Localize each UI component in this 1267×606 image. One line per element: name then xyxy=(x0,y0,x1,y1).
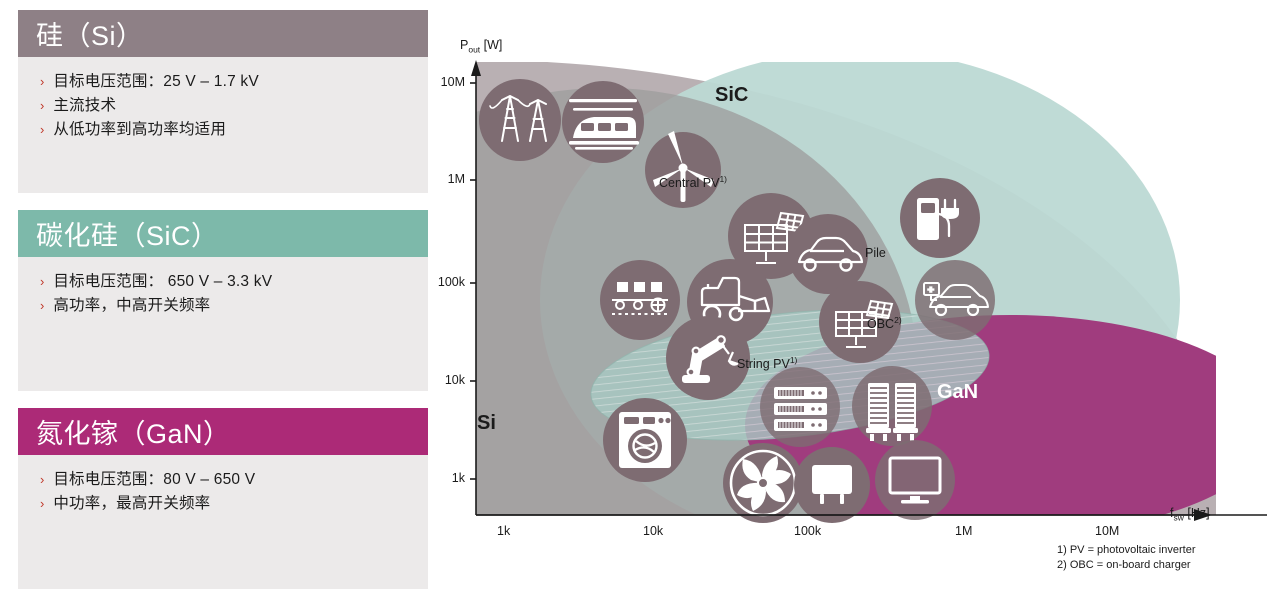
annotation-obc-sup: 2) xyxy=(894,315,902,325)
y-tick-label: 10M xyxy=(410,75,465,89)
app-bubble-washing-machine xyxy=(603,398,687,482)
annotation-pile-label: Pile xyxy=(865,246,886,260)
list-item: › 目标电压范围： 650 V – 3.3 kV xyxy=(18,271,428,292)
list-item-label: 目标电压范围： 650 V – 3.3 kV xyxy=(53,271,272,292)
list-item: › 目标电压范围：25 V – 1.7 kV xyxy=(18,71,428,92)
x-axis-title: fsw [Hz] xyxy=(1170,506,1210,523)
annotation-central-pv-sup: 1) xyxy=(719,174,727,184)
list-item-label: 从低功率到高功率均适用 xyxy=(53,119,226,140)
app-bubble-server-rack xyxy=(760,367,840,447)
footnote-1: 1) PV = photovoltaic inverter xyxy=(1057,543,1196,558)
list-item-label: 中功率，最高开关频率 xyxy=(53,493,210,514)
y-axis-title: Pout [W] xyxy=(460,38,502,55)
annotation-string-pv: String PV1) xyxy=(737,355,797,371)
card-gan-body: › 目标电压范围：80 V – 650 V › 中功率，最高开关频率 xyxy=(18,455,428,589)
annotation-string-pv-label: String PV xyxy=(737,357,790,371)
x-axis-title-unit: [Hz] xyxy=(1187,506,1209,520)
y-tick-label: 1k xyxy=(410,471,465,485)
card-si-body: › 目标电压范围：25 V – 1.7 kV › 主流技术 › 从低功率到高功率… xyxy=(18,57,428,193)
app-bubble-power-adapter xyxy=(794,447,870,523)
list-item-label: 高功率，中高开关频率 xyxy=(53,295,210,316)
footnote-2: 2) OBC = on-board charger xyxy=(1057,558,1191,573)
annotation-obc: OBC2) xyxy=(867,315,902,331)
material-cards: 硅（Si） › 目标电压范围：25 V – 1.7 kV › 主流技术 › 从低… xyxy=(18,10,428,606)
region-label-sic: SiC xyxy=(715,84,748,107)
annotation-string-pv-sup: 1) xyxy=(790,355,798,365)
list-item-label: 目标电压范围：25 V – 1.7 kV xyxy=(53,71,259,92)
y-tick-label: 10k xyxy=(410,373,465,387)
region-label-si: Si xyxy=(477,412,496,435)
list-item-label: 目标电压范围：80 V – 650 V xyxy=(53,469,255,490)
y-axis-title-subscript: out xyxy=(468,45,480,55)
list-item: › 从低功率到高功率均适用 xyxy=(18,119,428,140)
list-item-label: 主流技术 xyxy=(53,95,116,116)
list-item: › 主流技术 xyxy=(18,95,428,116)
card-sic-title: 碳化硅（SiC） xyxy=(36,214,219,253)
annotation-central-pv: Central PV1) xyxy=(659,174,727,190)
chevron-right-icon: › xyxy=(40,493,44,514)
chevron-right-icon: › xyxy=(40,271,44,292)
y-tick-label: 1M xyxy=(410,172,465,186)
app-bubble-server-tower xyxy=(852,366,932,446)
x-tick-label: 100k xyxy=(794,524,821,538)
app-bubble-power-grid xyxy=(479,79,561,161)
card-sic-body: › 目标电压范围： 650 V – 3.3 kV › 高功率，中高开关频率 xyxy=(18,257,428,391)
chevron-right-icon: › xyxy=(40,295,44,316)
x-tick-label: 1M xyxy=(955,524,972,538)
app-bubble-train xyxy=(562,81,644,163)
card-sic-header: 碳化硅（SiC） xyxy=(18,210,428,257)
card-si-title: 硅（Si） xyxy=(36,14,144,53)
y-tick-label: 100k xyxy=(410,275,465,289)
x-axis-title-subscript: sw xyxy=(1173,513,1183,523)
card-sic: 碳化硅（SiC） › 目标电压范围： 650 V – 3.3 kV › 高功率，… xyxy=(18,210,428,391)
annotation-obc-label: OBC xyxy=(867,317,894,331)
y-axis-title-unit: [W] xyxy=(484,38,503,52)
chevron-right-icon: › xyxy=(40,469,44,490)
region-label-gan: GaN xyxy=(937,381,978,404)
chevron-right-icon: › xyxy=(40,119,44,140)
x-tick-label: 10k xyxy=(643,524,663,538)
card-si: 硅（Si） › 目标电压范围：25 V – 1.7 kV › 主流技术 › 从低… xyxy=(18,10,428,193)
app-bubble-fan xyxy=(723,443,803,523)
card-gan: 氮化镓（GaN） › 目标电压范围：80 V – 650 V › 中功率，最高开… xyxy=(18,408,428,589)
chevron-right-icon: › xyxy=(40,95,44,116)
app-bubble-charging-pile xyxy=(900,178,980,258)
annotation-central-pv-label: Central PV xyxy=(659,176,719,190)
card-gan-header: 氮化镓（GaN） xyxy=(18,408,428,455)
list-item: › 目标电压范围：80 V – 650 V xyxy=(18,469,428,490)
list-item: › 中功率，最高开关频率 xyxy=(18,493,428,514)
app-bubble-monitor xyxy=(875,440,955,520)
card-gan-title: 氮化镓（GaN） xyxy=(36,412,231,451)
card-si-header: 硅（Si） xyxy=(18,10,428,57)
technology-positioning-chart: Pout [W] fsw [Hz] 10M 1M 100k 10k 1k 1k … xyxy=(440,0,1267,584)
annotation-pile: Pile xyxy=(865,246,886,260)
chart-canvas xyxy=(440,0,1267,584)
app-bubble-conveyor xyxy=(600,260,680,340)
x-tick-label: 1k xyxy=(497,524,510,538)
x-tick-label: 10M xyxy=(1095,524,1119,538)
app-bubble-obc-car xyxy=(915,260,995,340)
chevron-right-icon: › xyxy=(40,71,44,92)
list-item: › 高功率，中高开关频率 xyxy=(18,295,428,316)
